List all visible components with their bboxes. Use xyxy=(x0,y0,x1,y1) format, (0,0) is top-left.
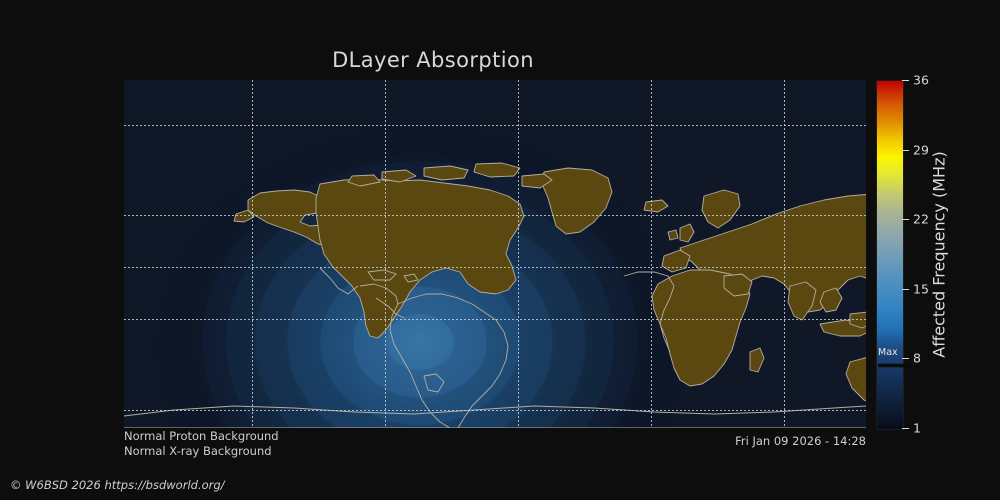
timestamp: Fri Jan 09 2026 - 14:28 xyxy=(735,434,866,448)
gridline-lat-m60 xyxy=(124,410,866,411)
gridline-lat-0 xyxy=(124,267,866,268)
colorbar-tick-label: 29 xyxy=(913,142,929,157)
gridline-lat-30 xyxy=(124,215,866,216)
colorbar-tick-mark xyxy=(902,428,909,429)
colorbar-axis-title-text: Affected Frequency (MHz) xyxy=(930,151,949,357)
colorbar[interactable] xyxy=(876,80,904,430)
xray-status: Normal X-ray Background xyxy=(124,444,279,459)
colorbar-gradient xyxy=(877,81,903,429)
colorbar-tick-label: 1 xyxy=(913,421,921,436)
gridline-lon-1 xyxy=(252,80,253,428)
gridline-lat-m30 xyxy=(124,319,866,320)
world-map[interactable] xyxy=(124,80,866,428)
colorbar-tick-mark xyxy=(902,219,909,220)
gridline-lon-4 xyxy=(651,80,652,428)
gridline-lat-60 xyxy=(124,125,866,126)
proton-status: Normal Proton Background xyxy=(124,429,279,444)
status-notes: Normal Proton Background Normal X-ray Ba… xyxy=(124,429,279,459)
max-arrow-icon xyxy=(878,361,914,370)
colorbar-axis-title: Affected Frequency (MHz) xyxy=(928,80,950,428)
map-canvas xyxy=(124,80,866,428)
colorbar-tick-mark xyxy=(902,150,909,151)
gridline-lon-3 xyxy=(518,80,519,428)
gridline-lon-5 xyxy=(784,80,785,428)
colorbar-tick-label: 22 xyxy=(913,212,929,227)
colorbar-tick-label: 36 xyxy=(913,73,929,88)
copyright-notice: © W6BSD 2026 https://bsdworld.org/ xyxy=(10,478,225,492)
page-title: DLayer Absorption xyxy=(0,48,866,72)
gridline-lon-2 xyxy=(385,80,386,428)
max-marker-label: Max xyxy=(878,348,898,358)
colorbar-tick-mark xyxy=(902,80,909,81)
colorbar-max-marker: Max xyxy=(877,348,917,376)
colorbar-tick-mark xyxy=(902,289,909,290)
colorbar-tick-label: 15 xyxy=(913,281,929,296)
dlayer-absorption-map-window: DLayer Absorption xyxy=(0,0,1000,500)
